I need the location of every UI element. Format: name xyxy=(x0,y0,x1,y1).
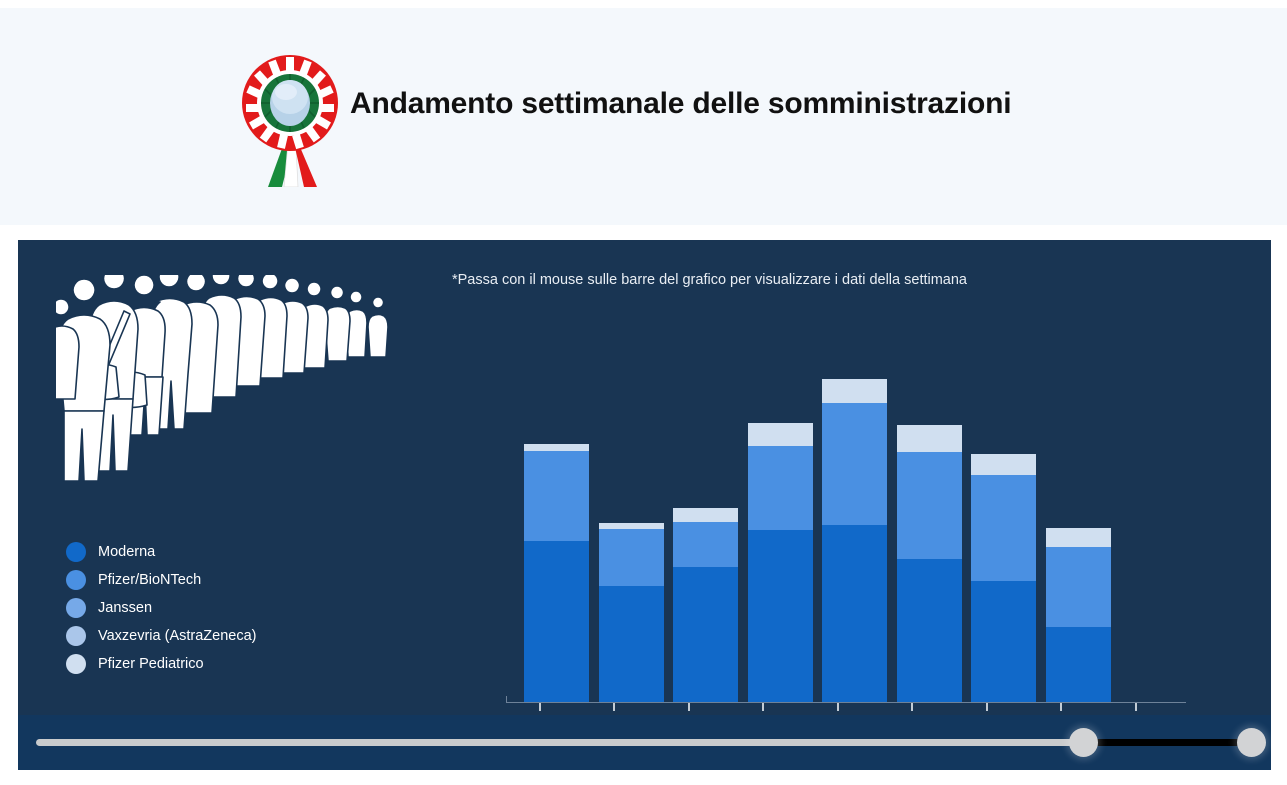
legend-label-moderna: Moderna xyxy=(98,544,155,560)
bar-31-01[interactable] xyxy=(1046,528,1111,702)
legend-item-vaxzevria[interactable]: Vaxzevria (AstraZeneca) xyxy=(66,622,256,650)
slider-handle-left[interactable] xyxy=(1069,728,1098,757)
bar-segment-pfizer-biontech[interactable] xyxy=(524,451,589,541)
legend-color-dot-pfizer-pediatrico xyxy=(66,654,86,674)
x-axis-tick xyxy=(613,703,615,711)
bar-24-01[interactable] xyxy=(971,454,1036,702)
x-axis-tick xyxy=(539,703,541,711)
bar-segment-moderna[interactable] xyxy=(748,530,813,702)
slider-handle-right[interactable] xyxy=(1237,728,1266,757)
bar-segment-moderna[interactable] xyxy=(673,567,738,702)
header-inner: Andamento settimanale delle somministraz… xyxy=(238,47,1011,187)
bar-segment-pfizer-biontech[interactable] xyxy=(1046,547,1111,627)
bar-segment-moderna[interactable] xyxy=(971,581,1036,702)
legend-item-moderna[interactable]: Moderna xyxy=(66,538,256,566)
bar-segment-pfizer-biontech[interactable] xyxy=(673,522,738,567)
bar-13-12[interactable] xyxy=(524,444,589,702)
time-range-slider[interactable] xyxy=(18,715,1271,770)
slider-selected-range[interactable] xyxy=(1083,739,1253,746)
x-axis-tick xyxy=(1135,703,1137,711)
bar-segment-moderna[interactable] xyxy=(524,541,589,702)
bar-segment-pfizer-biontech[interactable] xyxy=(599,529,664,586)
legend-label-pfizer-pediatrico: Pfizer Pediatrico xyxy=(98,656,204,672)
legend-color-dot-moderna xyxy=(66,542,86,562)
bar-segment-moderna[interactable] xyxy=(897,559,962,702)
chart-legend: Moderna Pfizer/BioNTech Janssen Vaxzevri… xyxy=(66,538,256,678)
bar-chart: 13/1220/1227/1203/0110/0117/0124/0131/01… xyxy=(488,315,1198,745)
legend-color-dot-janssen xyxy=(66,598,86,618)
bar-20-12[interactable] xyxy=(599,523,664,702)
legend-color-dot-vaxzevria xyxy=(66,626,86,646)
crowd-queue-illustration xyxy=(56,275,436,490)
x-axis-tick xyxy=(837,703,839,711)
bar-03-01[interactable] xyxy=(748,423,813,702)
bar-segment-moderna[interactable] xyxy=(599,586,664,702)
bar-segment-pfizer-pediatrico[interactable] xyxy=(673,508,738,522)
legend-item-pfizer-pediatrico[interactable]: Pfizer Pediatrico xyxy=(66,650,256,678)
bar-segment-pfizer-biontech[interactable] xyxy=(748,446,813,530)
bar-segment-pfizer-pediatrico[interactable] xyxy=(897,425,962,452)
x-axis-tick xyxy=(911,703,913,711)
chart-panel: *Passa con il mouse sulle barre del graf… xyxy=(18,240,1271,770)
bar-segment-pfizer-pediatrico[interactable] xyxy=(971,454,1036,475)
legend-label-janssen: Janssen xyxy=(98,600,152,616)
x-axis-tick xyxy=(762,703,764,711)
bar-segment-pfizer-biontech[interactable] xyxy=(971,475,1036,581)
bar-segment-pfizer-pediatrico[interactable] xyxy=(748,423,813,446)
x-axis-tick xyxy=(688,703,690,711)
bar-segment-moderna[interactable] xyxy=(1046,627,1111,702)
page-root: Andamento settimanale delle somministraz… xyxy=(0,0,1287,785)
page-title: Andamento settimanale delle somministraz… xyxy=(350,87,1011,121)
x-axis-line xyxy=(506,702,1186,703)
bar-segment-pfizer-pediatrico[interactable] xyxy=(822,379,887,403)
bar-segment-pfizer-pediatrico[interactable] xyxy=(524,444,589,451)
bar-segment-moderna[interactable] xyxy=(822,525,887,702)
x-axis-tick xyxy=(986,703,988,711)
page-header: Andamento settimanale delle somministraz… xyxy=(0,8,1287,225)
bar-segment-pfizer-biontech[interactable] xyxy=(897,452,962,559)
legend-label-vaxzevria: Vaxzevria (AstraZeneca) xyxy=(98,628,256,644)
legend-color-dot-pfizer-biontech xyxy=(66,570,86,590)
bar-27-12[interactable] xyxy=(673,508,738,702)
bar-segment-pfizer-pediatrico[interactable] xyxy=(1046,528,1111,547)
italian-cockade-icon xyxy=(238,47,342,187)
bar-17-01[interactable] xyxy=(897,425,962,702)
legend-label-pfizer-biontech: Pfizer/BioNTech xyxy=(98,572,201,588)
bar-10-01[interactable] xyxy=(822,379,887,702)
bar-segment-pfizer-biontech[interactable] xyxy=(822,403,887,525)
x-axis-tick xyxy=(1060,703,1062,711)
legend-item-janssen[interactable]: Janssen xyxy=(66,594,256,622)
legend-item-pfizer-biontech[interactable]: Pfizer/BioNTech xyxy=(66,566,256,594)
plot-area xyxy=(506,315,1198,702)
